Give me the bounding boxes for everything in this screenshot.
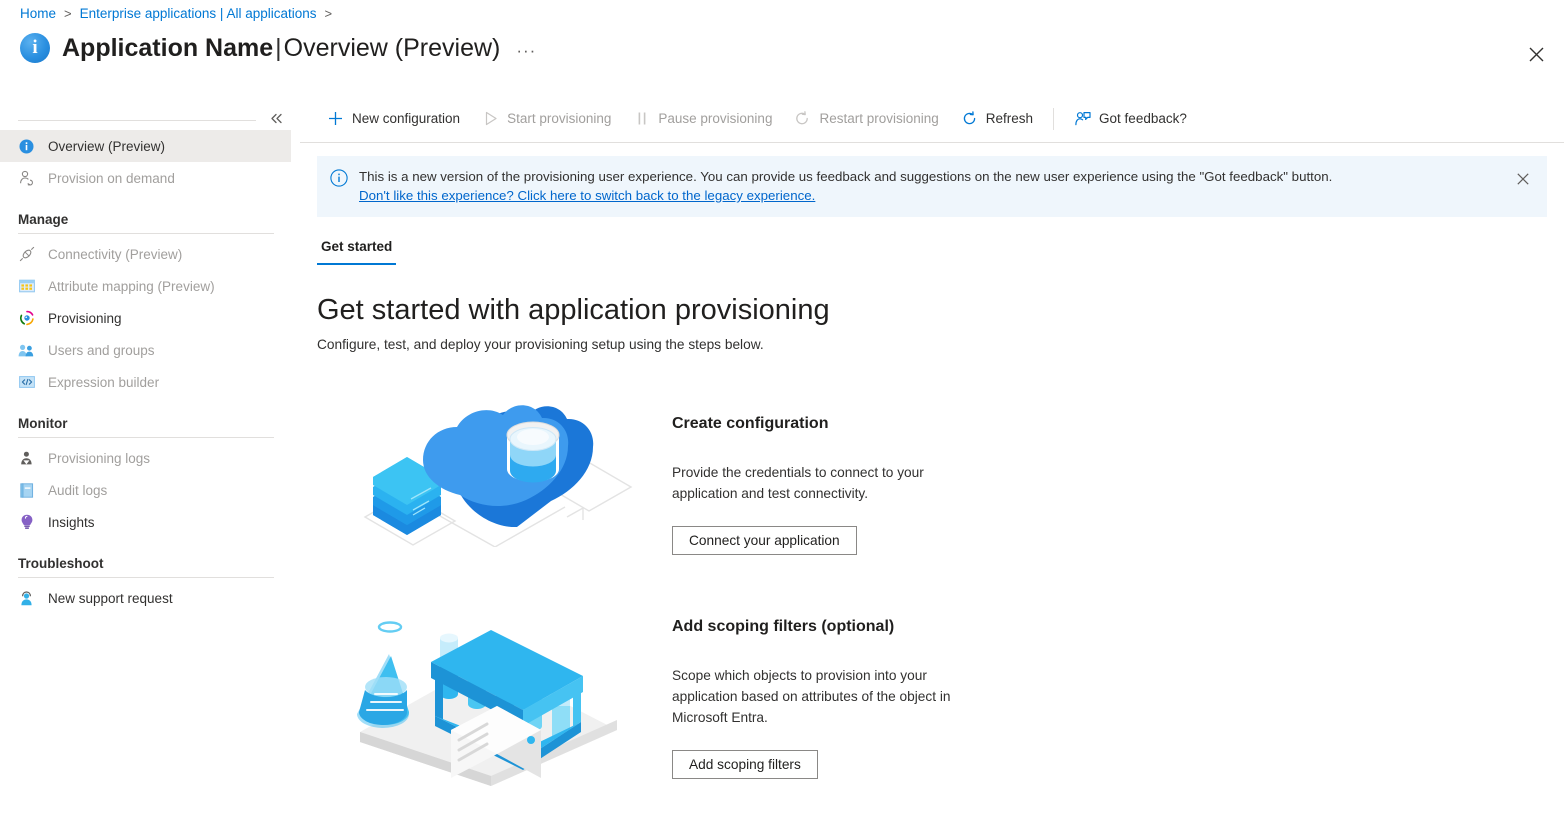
breadcrumb-separator: > xyxy=(64,6,72,21)
more-menu-button[interactable]: ··· xyxy=(516,41,536,61)
card-create-configuration: Create configuration Provide the credent… xyxy=(317,387,1564,555)
sidebar-item-new-support-request[interactable]: New support request xyxy=(0,582,291,614)
tab-bar: Get started xyxy=(317,239,1564,265)
toolbar-button-label: Refresh xyxy=(986,111,1033,126)
lab-flask-testtubes-illustration xyxy=(317,590,672,790)
sidebar-item-expression-builder[interactable]: Expression builder xyxy=(0,366,291,398)
sidebar-group-troubleshoot: Troubleshoot xyxy=(0,556,291,578)
card-body: Add scoping filters (optional) Scope whi… xyxy=(672,590,1092,779)
toolbar-button-label: Start provisioning xyxy=(507,111,611,126)
card-description: Scope which objects to provision into yo… xyxy=(672,665,962,728)
page-title: Application Name|Overview (Preview) xyxy=(62,34,500,63)
play-icon xyxy=(482,110,499,127)
close-icon xyxy=(1517,173,1529,185)
provisioning-cycle-icon xyxy=(18,310,35,327)
sidebar-item-label: Audit logs xyxy=(48,483,107,498)
sidebar-item-label: Attribute mapping (Preview) xyxy=(48,279,215,294)
sidebar-item-insights[interactable]: Insights xyxy=(0,506,291,538)
refresh-icon xyxy=(961,110,978,127)
sidebar-item-attribute-mapping-preview[interactable]: Attribute mapping (Preview) xyxy=(0,270,291,302)
sidebar-item-provisioning-logs[interactable]: Provisioning logs xyxy=(0,442,291,474)
breadcrumb-item-enterprise-applications[interactable]: Enterprise applications | All applicatio… xyxy=(80,6,317,21)
pause-provisioning-button[interactable]: Pause provisioning xyxy=(623,103,782,135)
info-glyph: i xyxy=(32,38,37,57)
close-blade-button[interactable] xyxy=(1522,40,1550,68)
provisioning-logs-icon xyxy=(18,450,35,467)
toolbar-button-label: Got feedback? xyxy=(1099,111,1187,126)
toolbar-divider xyxy=(1053,108,1054,130)
sidebar-item-users-and-groups[interactable]: Users and groups xyxy=(0,334,291,366)
close-icon xyxy=(1529,47,1544,62)
breadcrumb-separator-2: > xyxy=(325,6,333,21)
toolbar-button-label: Restart provisioning xyxy=(819,111,938,126)
page-header: i Application Name|Overview (Preview) ··… xyxy=(20,33,536,63)
sidebar-group-divider xyxy=(18,577,274,578)
plug-icon xyxy=(18,246,35,263)
info-banner: This is a new version of the provisionin… xyxy=(317,156,1547,217)
info-outline-icon xyxy=(330,169,348,187)
get-started-section: Get started with application provisionin… xyxy=(300,265,1564,790)
add-scoping-filters-button[interactable]: Add scoping filters xyxy=(672,750,818,779)
feedback-person-icon xyxy=(1074,110,1091,127)
sidebar-nav-list: Overview (Preview) Provision on demand M… xyxy=(0,130,291,614)
sidebar-item-label: Overview (Preview) xyxy=(48,139,165,154)
user-sync-icon xyxy=(18,170,35,187)
page-subheading: Configure, test, and deploy your provisi… xyxy=(317,337,1564,352)
page-heading: Get started with application provisionin… xyxy=(317,295,1564,327)
info-circle-icon xyxy=(18,138,35,155)
sidebar-item-label: Connectivity (Preview) xyxy=(48,247,182,262)
card-description: Provide the credentials to connect to yo… xyxy=(672,462,962,504)
sidebar-item-audit-logs[interactable]: Audit logs xyxy=(0,474,291,506)
command-toolbar: New configuration Start provisioning Pau… xyxy=(300,95,1564,143)
info-banner-body: This is a new version of the provisionin… xyxy=(359,168,1501,205)
sidebar-item-provision-on-demand[interactable]: Provision on demand xyxy=(0,162,291,194)
toolbar-button-label: New configuration xyxy=(352,111,460,126)
sidebar-group-title: Troubleshoot xyxy=(18,556,291,571)
connect-your-application-button[interactable]: Connect your application xyxy=(672,526,857,555)
lightbulb-icon xyxy=(18,514,35,531)
users-group-icon xyxy=(18,342,35,359)
sidebar-item-label: New support request xyxy=(48,591,173,606)
sidebar-item-provisioning[interactable]: Provisioning xyxy=(0,302,291,334)
restart-arrow-icon xyxy=(794,110,811,127)
sidebar-item-label: Provisioning logs xyxy=(48,451,150,466)
info-circle-icon: i xyxy=(20,33,50,63)
card-add-scoping-filters: Add scoping filters (optional) Scope whi… xyxy=(317,590,1564,790)
breadcrumb: Home > Enterprise applications | All app… xyxy=(20,6,340,21)
sidebar-item-label: Expression builder xyxy=(48,375,159,390)
got-feedback-button[interactable]: Got feedback? xyxy=(1064,103,1197,135)
table-grid-icon xyxy=(18,278,35,295)
support-person-icon xyxy=(18,590,35,607)
sidebar-group-title: Monitor xyxy=(18,416,291,431)
audit-log-book-icon xyxy=(18,482,35,499)
sidebar-group-divider xyxy=(18,437,274,438)
main-content: New configuration Start provisioning Pau… xyxy=(300,95,1564,829)
sidebar-collapse-button[interactable] xyxy=(266,108,286,128)
tab-label: Get started xyxy=(321,239,392,254)
sidebar-item-label: Insights xyxy=(48,515,95,530)
double-chevron-left-icon xyxy=(270,113,283,124)
sidebar-group-monitor: Monitor xyxy=(0,416,291,438)
restart-provisioning-button[interactable]: Restart provisioning xyxy=(784,103,948,135)
code-brackets-icon xyxy=(18,374,35,391)
tab-get-started[interactable]: Get started xyxy=(317,239,396,265)
switch-to-legacy-experience-link[interactable]: Don't like this experience? Click here t… xyxy=(359,188,815,203)
sidebar-item-label: Provision on demand xyxy=(48,171,175,186)
page-title-separator: | xyxy=(275,34,282,62)
page-title-section: Overview (Preview) xyxy=(284,34,501,62)
sidebar: Overview (Preview) Provision on demand M… xyxy=(0,100,300,829)
sidebar-group-manage: Manage xyxy=(0,212,291,234)
sidebar-group-title: Manage xyxy=(18,212,291,227)
info-banner-text: This is a new version of the provisionin… xyxy=(359,168,1501,186)
dismiss-banner-button[interactable] xyxy=(1513,169,1533,189)
breadcrumb-item-home[interactable]: Home xyxy=(20,6,56,21)
sidebar-group-divider xyxy=(18,233,274,234)
card-title: Add scoping filters (optional) xyxy=(672,618,1092,636)
toolbar-button-label: Pause provisioning xyxy=(658,111,772,126)
refresh-button[interactable]: Refresh xyxy=(951,103,1043,135)
plus-icon xyxy=(327,110,344,127)
sidebar-item-label: Provisioning xyxy=(48,311,122,326)
cloud-server-database-illustration xyxy=(317,387,672,547)
card-body: Create configuration Provide the credent… xyxy=(672,387,1092,555)
pause-icon xyxy=(633,110,650,127)
sidebar-top-divider xyxy=(18,120,256,121)
start-provisioning-button[interactable]: Start provisioning xyxy=(472,103,621,135)
card-title: Create configuration xyxy=(672,415,1092,433)
new-configuration-button[interactable]: New configuration xyxy=(317,103,470,135)
sidebar-item-label: Users and groups xyxy=(48,343,155,358)
sidebar-item-connectivity-preview[interactable]: Connectivity (Preview) xyxy=(0,238,291,270)
sidebar-item-overview-preview[interactable]: Overview (Preview) xyxy=(0,130,291,162)
page-title-app-name: Application Name xyxy=(62,34,273,62)
